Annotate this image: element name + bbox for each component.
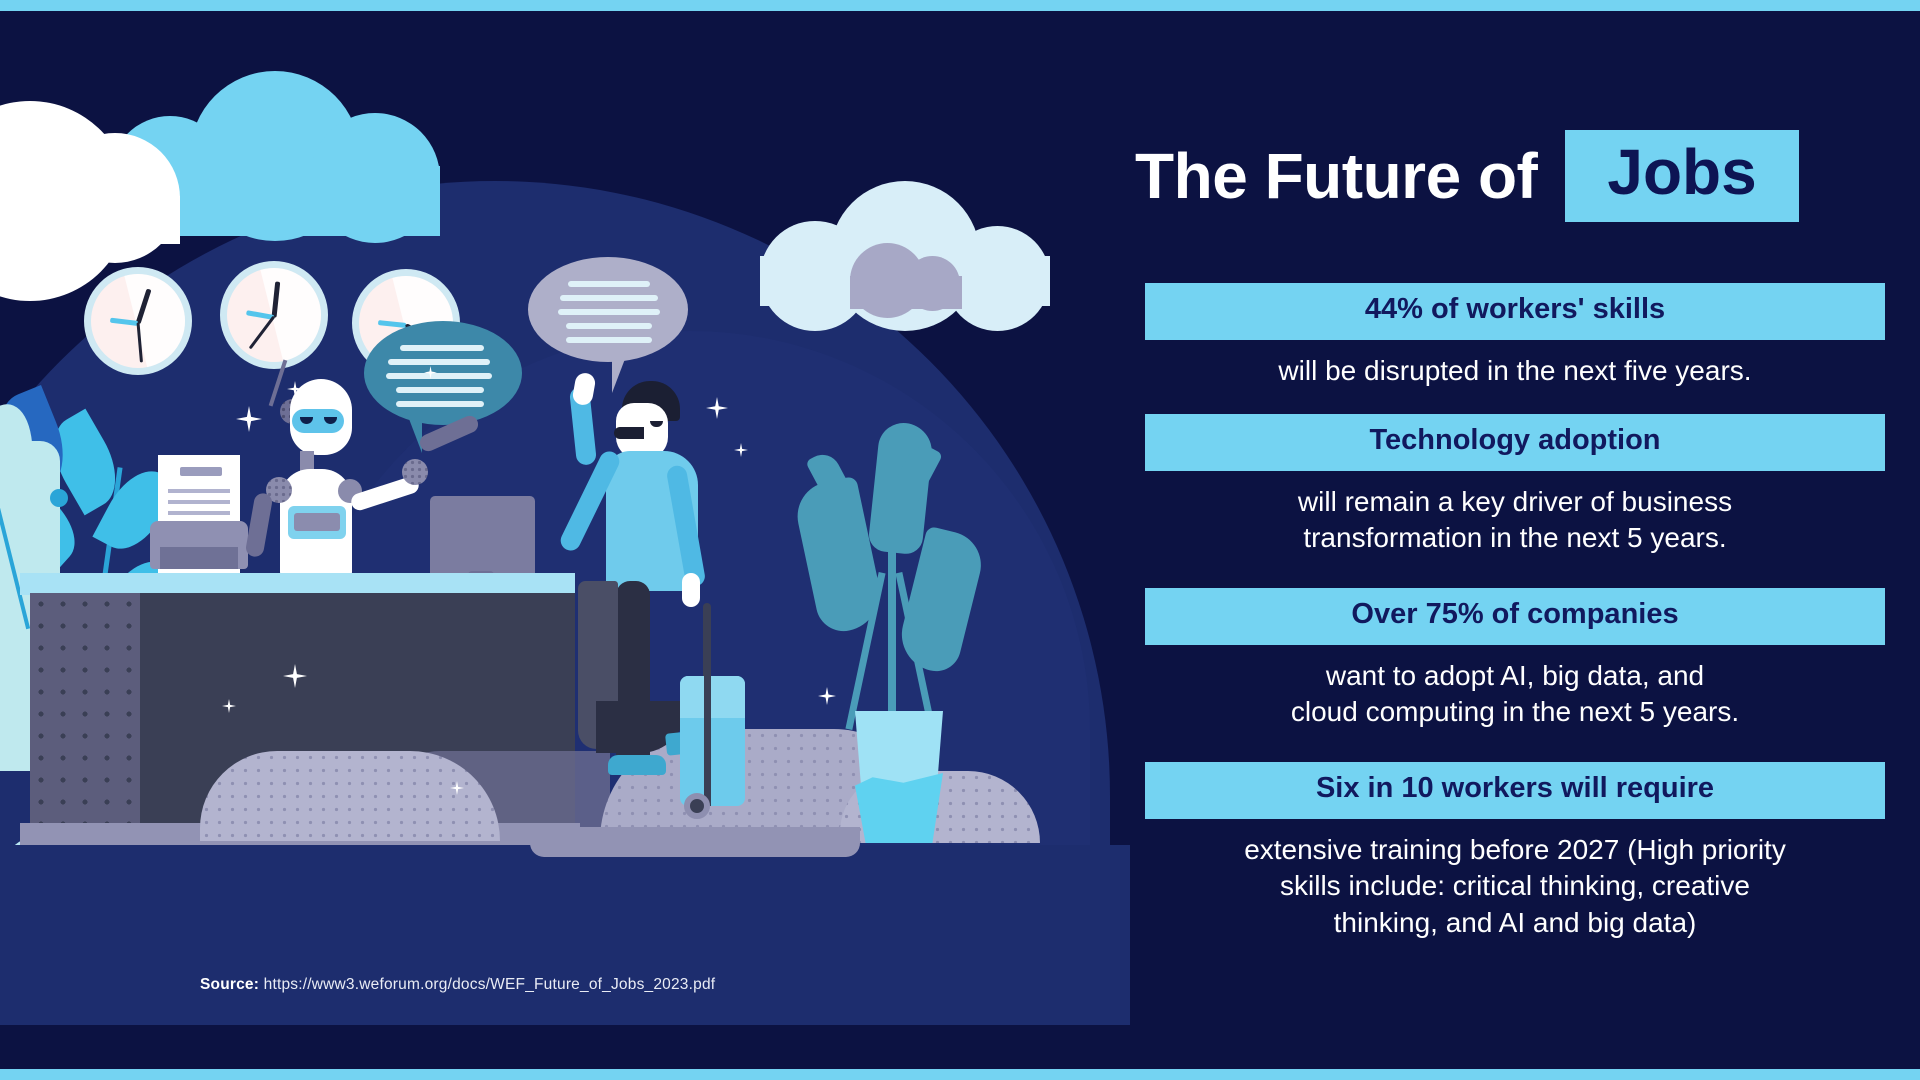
stat-heading: 44% of workers' skills: [1145, 283, 1885, 340]
pale-plant-bud: [50, 489, 68, 507]
stat-body: will be disrupted in the next five years…: [1145, 340, 1885, 389]
monitor-icon: [430, 496, 535, 580]
title-main-text: The Future of: [1135, 139, 1537, 213]
suitcase-handle: [703, 603, 711, 681]
stat-body-line: cloud computing in the next 5 years.: [1145, 694, 1885, 730]
infographic-canvas: Source: https://www3.weforum.org/docs/WE…: [0, 0, 1920, 1080]
right-plant-stem: [888, 531, 896, 731]
content-panel: The Future of Jobs 44% of workers' skill…: [1110, 0, 1920, 1080]
clock-icon-1: [84, 267, 192, 375]
page-title: The Future of Jobs: [1120, 120, 1910, 232]
speech-bubble-gray: [528, 257, 688, 362]
stat-body-line: extensive training before 2027 (High pri…: [1145, 832, 1885, 868]
stat-body-line: will be disrupted in the next five years…: [1145, 353, 1885, 389]
stat-body: want to adopt AI, big data, and cloud co…: [1145, 645, 1885, 731]
stat-body: extensive training before 2027 (High pri…: [1145, 819, 1885, 941]
stat-block-2: Technology adoption will remain a key dr…: [1145, 414, 1885, 557]
top-accent-border: [0, 0, 1920, 11]
desk-side-panel: [30, 593, 140, 828]
person-beard: [614, 427, 644, 439]
pale-cloud-icon: [760, 181, 1040, 291]
source-url: https://www3.weforum.org/docs/WEF_Future…: [264, 976, 716, 993]
stat-block-4: Six in 10 workers will require extensive…: [1145, 762, 1885, 941]
source-credit: Source: https://www3.weforum.org/docs/WE…: [200, 976, 715, 994]
robot-illustration: [252, 401, 442, 601]
stat-body-line: thinking, and AI and big data): [1145, 905, 1885, 941]
white-cloud-icon: [0, 61, 230, 201]
printer-tray: [160, 547, 238, 569]
person-shoe-front: [608, 755, 666, 775]
stat-body-line: skills include: critical thinking, creat…: [1145, 868, 1885, 904]
stat-block-1: 44% of workers' skills will be disrupted…: [1145, 283, 1885, 389]
stat-heading: Technology adoption: [1145, 414, 1885, 471]
title-highlight-badge: Jobs: [1565, 130, 1798, 222]
stat-body-line: want to adopt AI, big data, and: [1145, 658, 1885, 694]
stat-body-line: transformation in the next 5 years.: [1145, 520, 1885, 556]
robot-elbow-right: [402, 459, 428, 485]
ground-mound: [200, 751, 500, 841]
suitcase-top: [680, 676, 745, 718]
clock-icon-2: [220, 261, 328, 369]
person-hand-right: [682, 573, 700, 607]
stat-body: will remain a key driver of business tra…: [1145, 471, 1885, 557]
desk-top: [20, 573, 575, 595]
ground-plane: [0, 845, 1130, 1025]
stat-heading: Over 75% of companies: [1145, 588, 1885, 645]
plant-pot-shade: [855, 773, 943, 843]
bottom-accent-border: [0, 1069, 1920, 1080]
stat-block-3: Over 75% of companies want to adopt AI, …: [1145, 588, 1885, 731]
robot-chest-screen: [294, 513, 340, 531]
stat-body-line: will remain a key driver of business: [1145, 484, 1885, 520]
illustration-panel: [0, 11, 1130, 1069]
suitcase-stripe: [704, 676, 711, 806]
stat-heading: Six in 10 workers will require: [1145, 762, 1885, 819]
robot-visor: [292, 409, 344, 433]
suitcase-wheel: [684, 793, 710, 819]
source-label: Source:: [200, 976, 259, 993]
